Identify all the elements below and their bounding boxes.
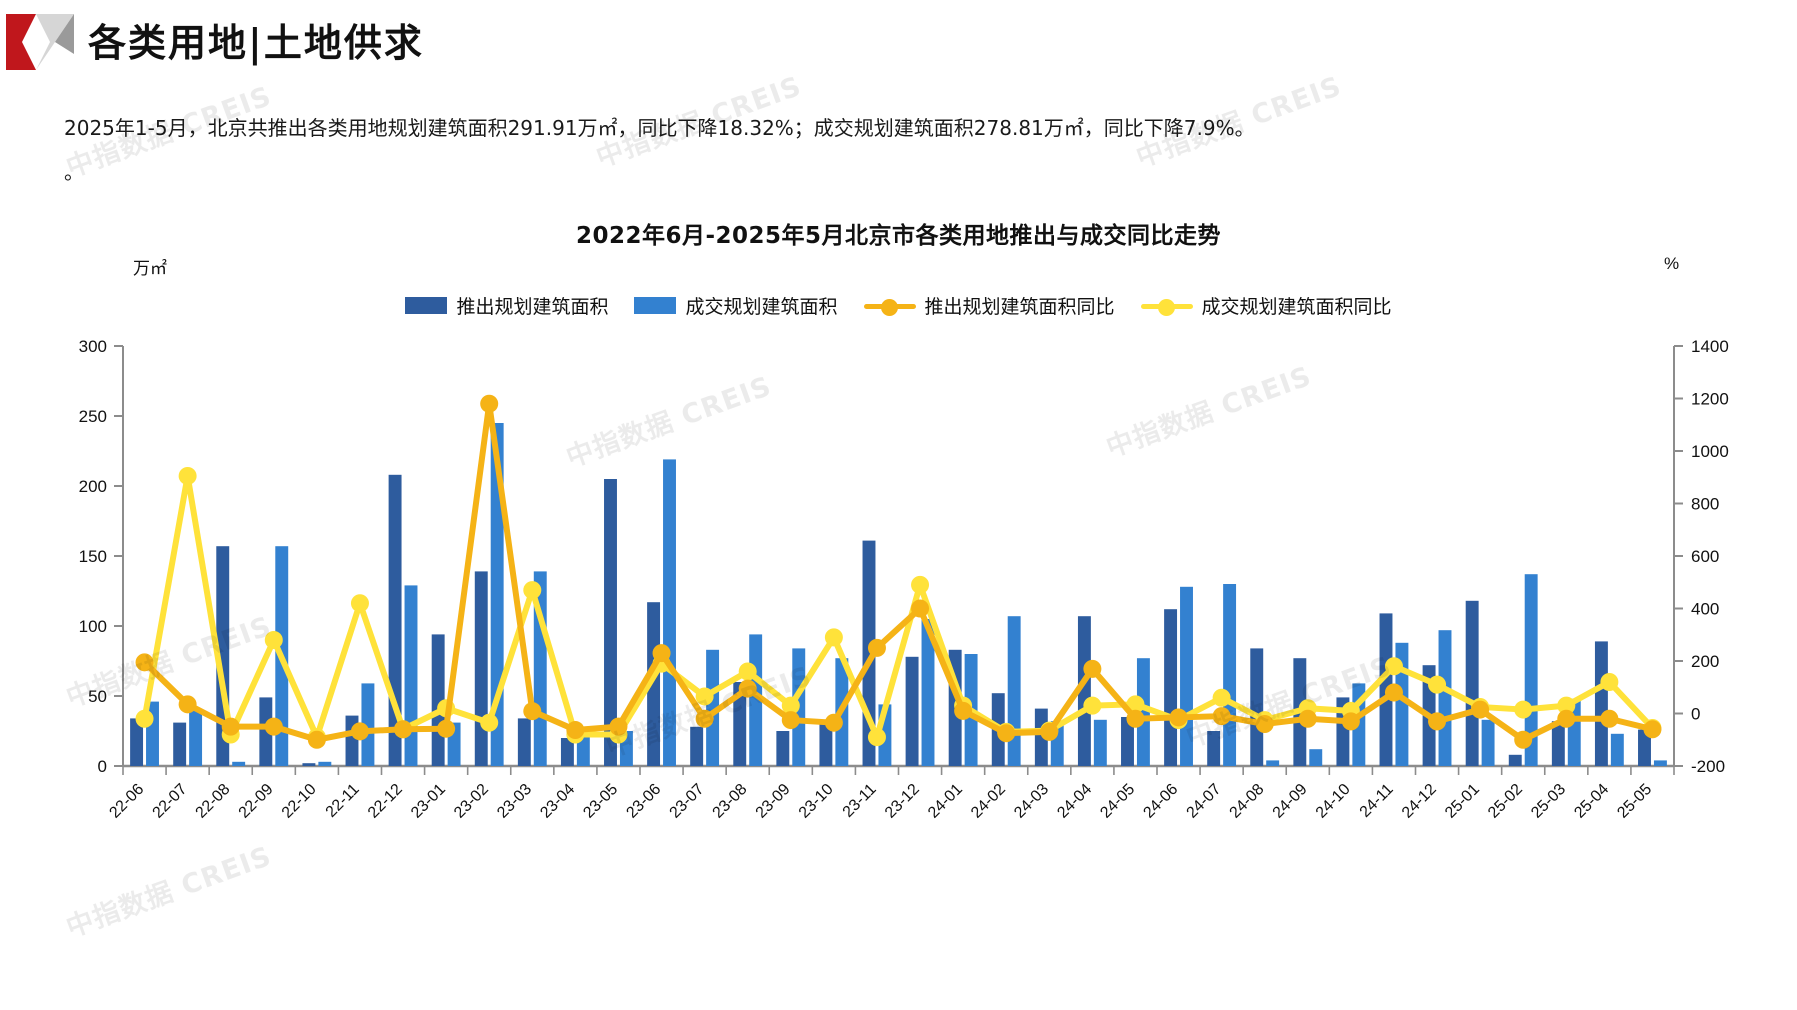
bar-supply-area [302, 763, 315, 766]
x-axis-tick-label: 24-04 [1054, 781, 1095, 822]
x-axis-tick-label: 23-01 [408, 781, 449, 822]
line-deal-yoy-marker [1514, 701, 1532, 719]
brand-logo-icon [6, 14, 74, 70]
bar-deal-area [663, 459, 676, 766]
y-axis-left-tick: 50 [88, 687, 107, 706]
x-axis-tick-label: 24-10 [1313, 781, 1354, 822]
line-supply-yoy-marker [997, 724, 1015, 742]
line-deal-yoy-marker [1083, 697, 1101, 715]
line-deal-yoy-marker [523, 581, 541, 599]
x-axis-tick-label: 24-02 [968, 781, 1009, 822]
bar-deal-area [1223, 584, 1236, 766]
bar-supply-area [1207, 731, 1220, 766]
line-supply-yoy-marker [954, 702, 972, 720]
bar-supply-area [1595, 641, 1608, 766]
page-title: 各类用地|土地供求 [88, 12, 424, 67]
line-supply-yoy-marker [1040, 723, 1058, 741]
y-axis-right-tick: 0 [1691, 705, 1700, 724]
x-axis-tick-label: 22-08 [193, 781, 234, 822]
line-supply-yoy-marker [1213, 707, 1231, 725]
x-axis-tick-label: 25-05 [1614, 781, 1655, 822]
x-axis-tick-label: 23-10 [796, 781, 837, 822]
line-deal-yoy-marker [265, 631, 283, 649]
line-supply-yoy-marker [480, 395, 498, 413]
line-supply-yoy-marker [868, 639, 886, 657]
line-supply-yoy-marker [1126, 710, 1144, 728]
line-supply-yoy-marker [265, 718, 283, 736]
line-supply-yoy-marker [566, 721, 584, 739]
bar-supply-area [173, 723, 186, 766]
bar-deal-area [1309, 749, 1322, 766]
line-deal-yoy-marker [825, 628, 843, 646]
y-axis-right-tick: 1000 [1691, 442, 1729, 461]
x-axis-tick-label: 25-02 [1485, 781, 1526, 822]
bar-deal-area [405, 585, 418, 766]
x-axis-tick-label: 22-09 [236, 781, 277, 822]
y-axis-left-tick: 150 [79, 547, 107, 566]
line-deal-yoy-marker [179, 467, 197, 485]
x-axis-tick-label: 24-12 [1399, 781, 1440, 822]
line-supply-yoy-marker [179, 695, 197, 713]
line-supply-yoy-marker [222, 718, 240, 736]
line-supply-yoy-marker [739, 680, 757, 698]
bar-supply-area [1509, 755, 1522, 766]
line-supply-yoy-marker [1385, 684, 1403, 702]
line-deal-yoy-marker [480, 714, 498, 732]
y-axis-right-tick: 200 [1691, 652, 1719, 671]
bar-deal-area [1266, 760, 1279, 766]
bar-supply-area [1250, 648, 1263, 766]
line-supply-yoy-marker [1471, 701, 1489, 719]
line-supply-yoy-marker [1643, 720, 1661, 738]
bar-supply-area [1466, 601, 1479, 766]
chart-container: 2022年6月-2025年5月北京市各类用地推出与成交同比走势 万㎡ % 推出规… [0, 196, 1797, 1010]
y-axis-right-tick: 1400 [1691, 337, 1729, 356]
line-supply-yoy-marker [1170, 708, 1188, 726]
x-axis-tick-label: 25-01 [1442, 781, 1483, 822]
line-supply-yoy-marker [1600, 710, 1618, 728]
line-deal-yoy-marker [911, 576, 929, 594]
line-deal-yoy-marker [1385, 657, 1403, 675]
y-axis-right-tick: 600 [1691, 547, 1719, 566]
line-deal-yoy-marker [1213, 689, 1231, 707]
line-supply-yoy-marker [437, 720, 455, 738]
x-axis-tick-label: 23-06 [623, 781, 664, 822]
page-header: 各类用地|土地供求 [0, 0, 1797, 88]
x-axis-tick-label: 23-07 [666, 781, 707, 822]
line-supply-yoy-marker [609, 718, 627, 736]
x-axis-tick-label: 23-08 [710, 781, 751, 822]
x-axis-tick-label: 23-12 [882, 781, 923, 822]
line-supply-yoy-marker [136, 653, 154, 671]
line-deal-yoy-marker [136, 710, 154, 728]
y-axis-left-tick: 100 [79, 617, 107, 636]
y-axis-left-tick: 250 [79, 407, 107, 426]
line-supply-yoy-marker [782, 711, 800, 729]
bar-supply-area [690, 727, 703, 766]
bar-deal-area [318, 762, 331, 766]
bar-deal-area [1439, 630, 1452, 766]
bar-deal-area [1654, 760, 1667, 766]
line-supply-yoy-marker [1083, 660, 1101, 678]
line-supply-yoy-marker [1299, 710, 1317, 728]
x-axis-tick-label: 22-12 [365, 781, 406, 822]
x-axis-tick-label: 24-09 [1270, 781, 1311, 822]
y-axis-right-tick: -200 [1691, 757, 1725, 776]
x-axis-tick-label: 25-04 [1571, 781, 1612, 822]
x-axis-tick-label: 24-08 [1227, 781, 1268, 822]
y-axis-left-tick: 0 [98, 757, 107, 776]
x-axis-tick-label: 22-07 [149, 781, 190, 822]
chart-svg: 050100150200250300-200020040060080010001… [0, 196, 1797, 1010]
bar-deal-area [1482, 720, 1495, 766]
y-axis-right-tick: 1200 [1691, 390, 1729, 409]
x-axis-tick-label: 22-10 [279, 781, 320, 822]
x-axis-tick-label: 24-07 [1183, 781, 1224, 822]
summary-paragraph-tail: 。 [64, 156, 84, 185]
y-axis-left-tick: 200 [79, 477, 107, 496]
x-axis-tick-label: 23-11 [840, 781, 880, 821]
summary-paragraph: 2025年1-5月，北京共推出各类用地规划建筑面积291.91万㎡，同比下降18… [64, 100, 1724, 156]
line-supply-yoy-marker [911, 600, 929, 618]
x-axis-tick-label: 23-02 [451, 781, 492, 822]
line-supply-yoy-marker [351, 722, 369, 740]
x-axis-tick-label: 22-11 [323, 781, 363, 821]
bar-supply-area [518, 718, 531, 766]
line-deal-yoy-marker [868, 728, 886, 746]
y-axis-left-tick: 300 [79, 337, 107, 356]
line-supply-yoy-marker [308, 731, 326, 749]
line-supply-yoy-marker [394, 720, 412, 738]
x-axis-tick-label: 24-01 [925, 781, 966, 822]
x-axis-tick-label: 22-06 [106, 781, 147, 822]
bar-deal-area [1180, 587, 1193, 766]
line-supply-yoy-marker [1256, 715, 1274, 733]
line-supply-yoy-marker [1514, 731, 1532, 749]
x-axis-tick-label: 24-06 [1140, 781, 1181, 822]
bar-deal-area [189, 710, 202, 766]
x-axis-tick-label: 23-09 [753, 781, 794, 822]
x-axis-tick-label: 24-03 [1011, 781, 1052, 822]
x-axis-tick-label: 25-03 [1528, 781, 1569, 822]
bar-deal-area [1611, 734, 1624, 766]
y-axis-right-tick: 800 [1691, 495, 1719, 514]
line-supply-yoy-marker [825, 714, 843, 732]
plot-area: 050100150200250300-200020040060080010001… [0, 196, 1797, 1010]
line-deal-yoy-marker [351, 594, 369, 612]
x-axis-tick-label: 23-05 [580, 781, 621, 822]
bar-supply-area [1164, 609, 1177, 766]
bar-supply-area [776, 731, 789, 766]
x-axis-tick-label: 23-03 [494, 781, 535, 822]
line-supply-yoy-marker [1342, 712, 1360, 730]
bar-supply-area [475, 571, 488, 766]
line-supply-yoy-marker [1428, 712, 1446, 730]
line-deal-yoy-marker [1600, 673, 1618, 691]
bar-deal-area [1008, 616, 1021, 766]
line-deal-yoy-marker [696, 687, 714, 705]
bar-deal-area [1094, 720, 1107, 766]
line-supply-yoy-marker [523, 702, 541, 720]
line-deal-yoy-marker [1428, 676, 1446, 694]
line-supply-yoy-marker [1557, 710, 1575, 728]
bar-supply-area [906, 657, 919, 766]
y-axis-right-tick: 400 [1691, 600, 1719, 619]
line-supply-yoy-marker [653, 644, 671, 662]
bar-deal-area [232, 762, 245, 766]
x-axis-tick-label: 24-11 [1357, 781, 1397, 821]
line-deal-yoy-marker [739, 663, 757, 681]
x-axis-tick-label: 23-04 [537, 781, 578, 822]
line-supply-yoy-marker [696, 710, 714, 728]
x-axis-tick-label: 24-05 [1097, 781, 1138, 822]
